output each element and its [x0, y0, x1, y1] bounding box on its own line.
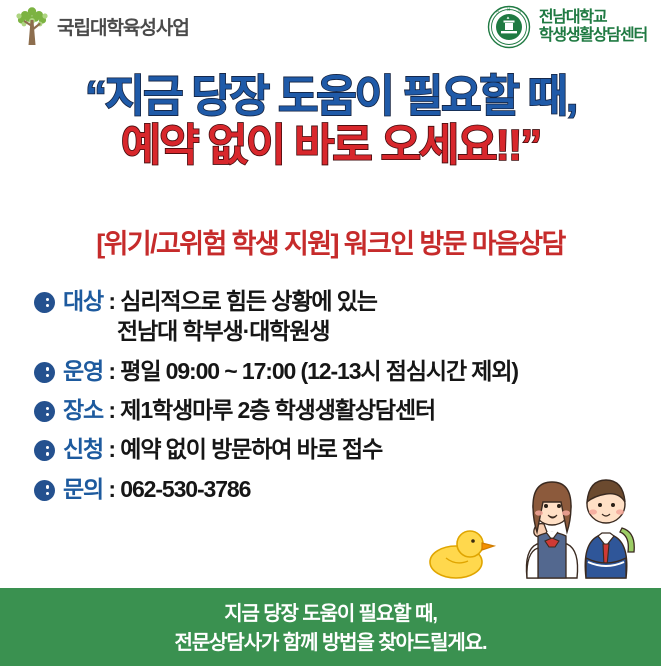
colon-circle-icon — [34, 401, 55, 422]
logo-national-university-program: 국립대학육성사업 — [14, 6, 189, 46]
colon-circle-icon — [34, 440, 55, 461]
info-row-body: 대상 : 심리적으로 힘든 상황에 있는 전남대 학부생·대학원생 — [63, 286, 634, 347]
info-row-target: 대상 : 심리적으로 힘든 상황에 있는 전남대 학부생·대학원생 — [34, 286, 634, 347]
headline-line-2: 예약 없이 바로 오세요!!” — [0, 121, 661, 170]
footer-line-2: 전문상담사가 함께 방법을 찾아드릴게요. — [0, 629, 661, 658]
info-label-target: 대상 — [63, 288, 103, 314]
info-row-location-line1: 장소 : 제1학생마루 2층 학생생활상담센터 — [63, 395, 634, 425]
info-separator: : — [103, 288, 120, 314]
female-student-icon — [526, 482, 577, 578]
headline-line-1: “지금 당장 도움이 필요할 때, — [0, 72, 661, 121]
poster-header: 국립대학육성사업 전남대 전남대학교 학생생활 — [0, 0, 661, 58]
info-row-hours: 운영 : 평일 09:00 ~ 17:00 (12-13시 점심시간 제외) — [34, 356, 634, 386]
info-separator: : — [103, 476, 120, 502]
colon-circle-icon — [34, 362, 55, 383]
info-label-application: 신청 — [63, 436, 103, 462]
info-text-application: 예약 없이 방문하여 바로 접수 — [120, 436, 382, 462]
footer-line-1: 지금 당장 도움이 필요할 때, — [0, 600, 661, 629]
info-text-target-1: 심리적으로 힘든 상황에 있는 — [120, 288, 377, 314]
info-label-contact: 문의 — [63, 476, 103, 502]
svg-text:대: 대 — [518, 9, 521, 14]
students-and-duck-illustration — [426, 458, 661, 588]
svg-text:전: 전 — [496, 9, 499, 14]
university-seal-icon: 전남대 — [487, 5, 531, 49]
male-student-icon — [585, 480, 634, 578]
poster-root: 국립대학육성사업 전남대 전남대학교 학생생활 — [0, 0, 661, 666]
subtitle: [위기/고위험 학생 지원] 워크인 방문 마음상담 — [0, 222, 661, 261]
logo-right-label: 전남대학교 학생생활상담센터 — [539, 9, 647, 45]
tree-icon — [14, 6, 50, 46]
info-label-location: 장소 — [63, 397, 103, 423]
colon-circle-icon — [34, 480, 55, 501]
yellow-duck-icon — [430, 531, 494, 578]
info-row-location: 장소 : 제1학생마루 2층 학생생활상담센터 — [34, 395, 634, 425]
info-row-hours-line1: 운영 : 평일 09:00 ~ 17:00 (12-13시 점심시간 제외) — [63, 356, 634, 386]
info-separator: : — [103, 358, 120, 384]
logo-chonnam-counseling-center: 전남대 전남대학교 학생생활상담센터 — [487, 5, 647, 49]
headline: “지금 당장 도움이 필요할 때, 예약 없이 바로 오세요!!” — [0, 72, 661, 171]
info-text-phone-number: 062-530-3786 — [120, 476, 250, 502]
info-text-hours: 평일 09:00 ~ 17:00 (12-13시 점심시간 제외) — [120, 358, 518, 384]
logo-right-line1: 전남대학교 — [539, 9, 647, 27]
info-row-target-line1: 대상 : 심리적으로 힘든 상황에 있는 — [63, 286, 634, 316]
info-separator: : — [103, 397, 120, 423]
footer-message: 지금 당장 도움이 필요할 때, 전문상담사가 함께 방법을 찾아드릴게요. — [0, 600, 661, 658]
colon-circle-icon — [34, 292, 55, 313]
logo-right-line2: 학생생활상담센터 — [539, 27, 647, 45]
info-separator: : — [103, 436, 120, 462]
info-label-hours: 운영 — [63, 358, 103, 384]
logo-left-label: 국립대학육성사업 — [57, 13, 189, 40]
info-text-location: 제1학생마루 2층 학생생활상담센터 — [120, 397, 435, 423]
svg-text:남: 남 — [507, 6, 510, 11]
info-row-body: 장소 : 제1학생마루 2층 학생생활상담센터 — [63, 395, 634, 425]
info-row-body: 운영 : 평일 09:00 ~ 17:00 (12-13시 점심시간 제외) — [63, 356, 634, 386]
info-text-target-2: 전남대 학부생·대학원생 — [63, 316, 634, 346]
